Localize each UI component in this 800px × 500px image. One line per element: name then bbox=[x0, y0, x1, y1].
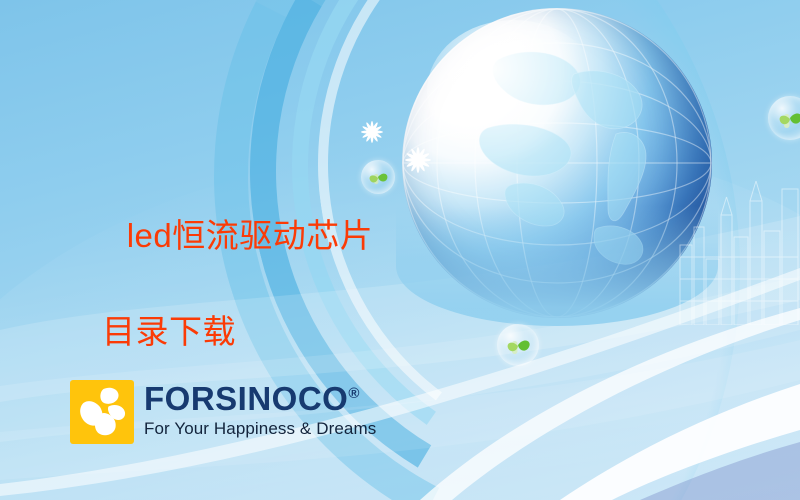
banner-canvas: led恒流驱动芯片 目录下载 FORSINOCO® For Your Happi… bbox=[0, 0, 800, 500]
headline-line-2: 目录下载 bbox=[88, 308, 508, 356]
flower-logo-icon bbox=[70, 380, 134, 444]
brand-tagline: For Your Happiness & Dreams bbox=[144, 419, 376, 439]
registered-trademark-icon: ® bbox=[348, 385, 360, 402]
brand-name-word: FORSINOCO bbox=[144, 380, 348, 417]
headline-line-1: led恒流驱动芯片 bbox=[127, 217, 374, 254]
brand-name: FORSINOCO® bbox=[144, 382, 376, 415]
globe-specular-highlight bbox=[427, 20, 601, 163]
starburst-flower-icon bbox=[359, 119, 385, 145]
brand-logo-text: FORSINOCO® For Your Happiness & Dreams bbox=[144, 380, 376, 439]
bubble-with-sprout bbox=[768, 96, 800, 140]
brand-logo: FORSINOCO® For Your Happiness & Dreams bbox=[70, 380, 376, 444]
